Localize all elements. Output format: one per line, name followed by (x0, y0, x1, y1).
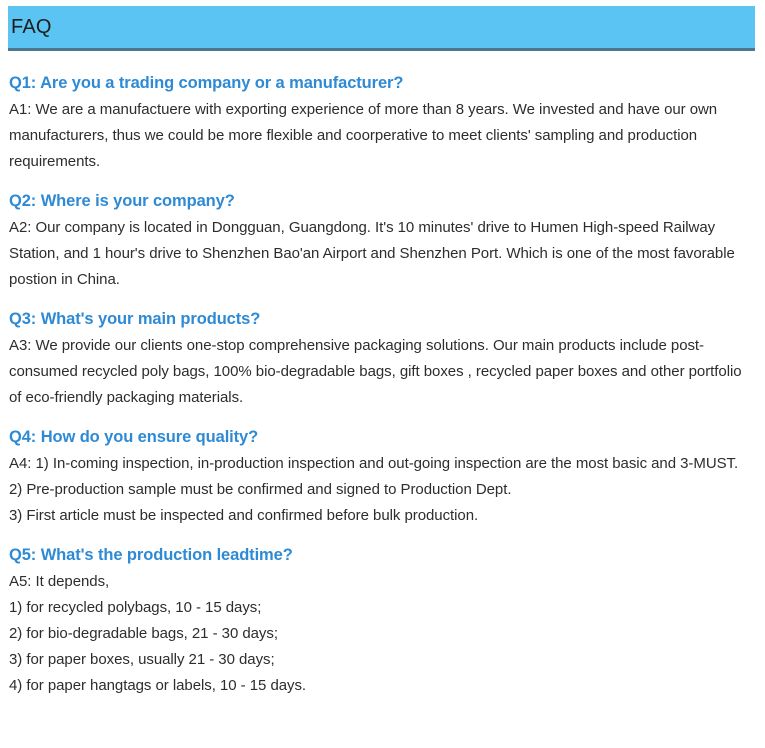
faq-page: FAQ Q1: Are you a trading company or a m… (0, 0, 765, 748)
faq-list: Q1: Are you a trading company or a manuf… (9, 70, 753, 699)
faq-answer-line: 4) for paper hangtags or labels, 10 - 15… (9, 673, 753, 699)
faq-answer-line: 1) for recycled polybags, 10 - 15 days; (9, 595, 753, 621)
faq-answer: A2: Our company is located in Dongguan, … (9, 215, 753, 293)
faq-item: Q4: How do you ensure quality?A4: 1) In-… (9, 424, 753, 529)
faq-header-banner: FAQ (8, 6, 755, 51)
faq-question: Q4: How do you ensure quality? (9, 424, 753, 450)
faq-answer: A3: We provide our clients one-stop comp… (9, 333, 753, 411)
faq-question: Q2: Where is your company? (9, 188, 753, 214)
faq-answer-line: 3) First article must be inspected and c… (9, 503, 753, 529)
faq-answer-line: 2) Pre-production sample must be confirm… (9, 477, 753, 503)
faq-answer: A5: It depends,1) for recycled polybags,… (9, 569, 753, 699)
faq-answer: A4: 1) In-coming inspection, in-producti… (9, 451, 753, 529)
faq-answer-line: 3) for paper boxes, usually 21 - 30 days… (9, 647, 753, 673)
faq-answer-line: A1: We are a manufactuere with exporting… (9, 97, 753, 175)
page-title: FAQ (11, 14, 52, 40)
faq-answer-line: A3: We provide our clients one-stop comp… (9, 333, 753, 411)
faq-item: Q1: Are you a trading company or a manuf… (9, 70, 753, 175)
faq-item: Q2: Where is your company?A2: Our compan… (9, 188, 753, 293)
faq-question: Q5: What's the production leadtime? (9, 542, 753, 568)
faq-answer-line: A5: It depends, (9, 569, 753, 595)
faq-question: Q1: Are you a trading company or a manuf… (9, 70, 753, 96)
faq-answer: A1: We are a manufactuere with exporting… (9, 97, 753, 175)
faq-item: Q3: What's your main products?A3: We pro… (9, 306, 753, 411)
faq-answer-line: A2: Our company is located in Dongguan, … (9, 215, 753, 293)
faq-question: Q3: What's your main products? (9, 306, 753, 332)
faq-answer-line: A4: 1) In-coming inspection, in-producti… (9, 451, 753, 477)
faq-item: Q5: What's the production leadtime?A5: I… (9, 542, 753, 699)
faq-answer-line: 2) for bio-degradable bags, 21 - 30 days… (9, 621, 753, 647)
